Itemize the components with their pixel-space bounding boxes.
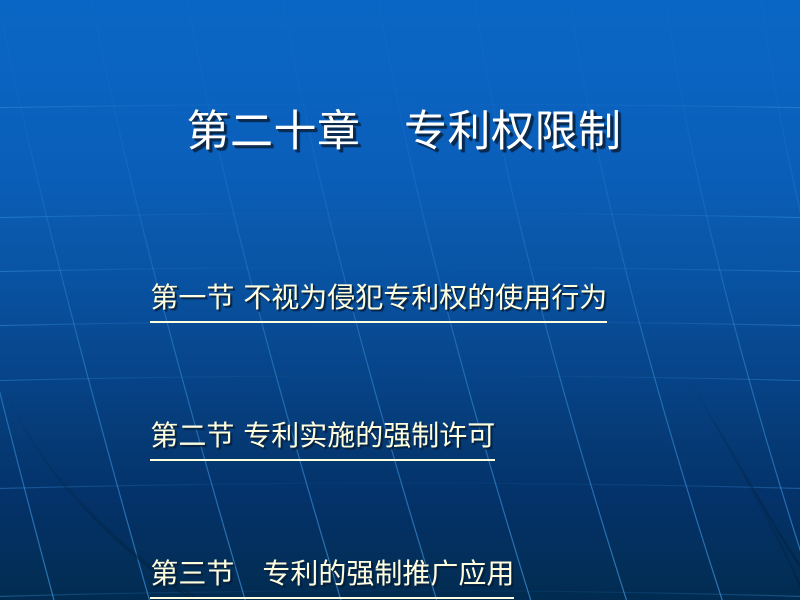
section-link-3-label: 第三节 专利的强制推广应用 xyxy=(150,551,514,599)
presentation-slide: 第二十章 专利权限制 第一节 不视为侵犯专利权的使用行为 第二节 专利实施的强制… xyxy=(0,0,800,600)
section-link-3[interactable]: 第三节 专利的强制推广应用 xyxy=(97,506,757,600)
section-link-1[interactable]: 第一节 不视为侵犯专利权的使用行为 xyxy=(97,230,757,368)
section-list: 第一节 不视为侵犯专利权的使用行为 第二节 专利实施的强制许可 第三节 专利的强… xyxy=(97,230,757,600)
section-link-1-label: 第一节 不视为侵犯专利权的使用行为 xyxy=(150,275,607,323)
section-link-2[interactable]: 第二节 专利实施的强制许可 xyxy=(97,368,757,506)
slide-title-block: 第二十章 专利权限制 xyxy=(0,108,800,156)
section-link-2-label: 第二节 专利实施的强制许可 xyxy=(150,413,495,461)
slide-title: 第二十章 专利权限制 xyxy=(187,108,622,156)
